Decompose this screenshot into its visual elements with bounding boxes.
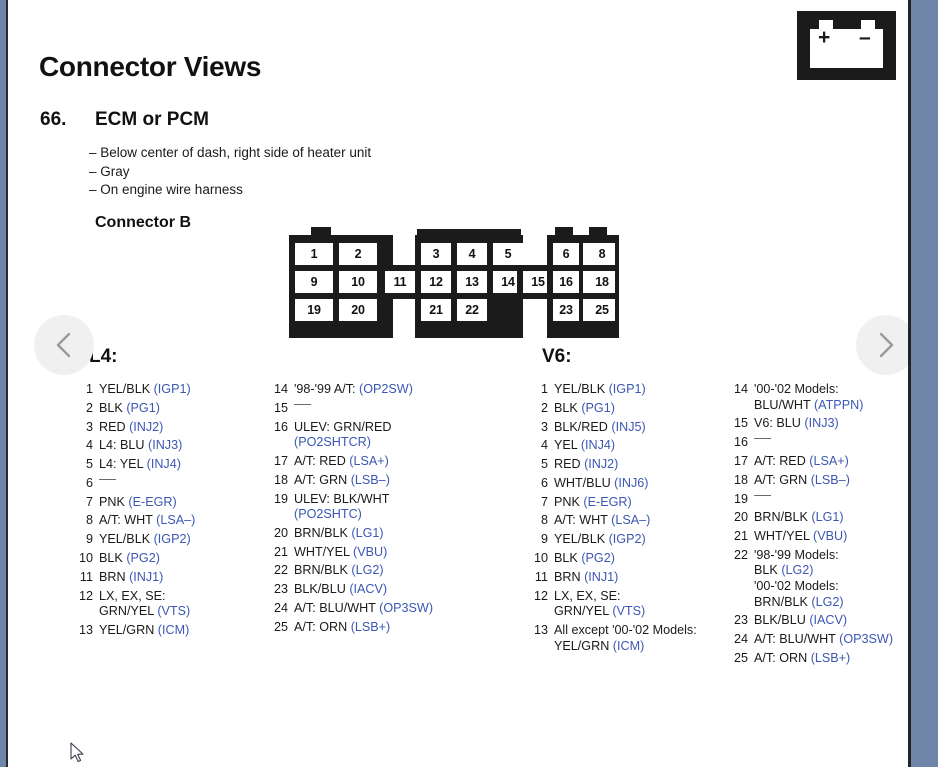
pin-description: A/T: GRN (LSB–) <box>754 473 921 489</box>
pin-number: 24 <box>726 632 754 648</box>
pin-row: 18A/T: GRN (LSB–) <box>726 473 921 489</box>
pin-signal-code: (LG1) <box>811 510 843 524</box>
battery-icon: + – <box>797 11 896 80</box>
pin-row: 13YEL/GRN (ICM) <box>71 623 261 639</box>
pin-signal-code: (LSA–) <box>611 513 650 527</box>
pin-description: YEL/BLK (IGP2) <box>554 532 726 548</box>
connector-pin-8: 8 <box>589 243 615 265</box>
pin-number: 6 <box>71 476 99 492</box>
pin-row: 24A/T: BLU/WHT (OP3SW) <box>726 632 921 648</box>
pin-signal-code: (ICM) <box>613 639 644 653</box>
pin-number: 16 <box>726 435 754 451</box>
pin-description: BLK/RED (INJ5) <box>554 420 726 436</box>
pin-signal-code: (LG2) <box>781 563 813 577</box>
pin-description: YEL/GRN (ICM) <box>99 623 261 639</box>
pin-description: ULEV: GRN/RED (PO2SHTCR) <box>294 420 466 451</box>
right-scroll-rail[interactable] <box>911 0 938 767</box>
connector-diagram: 1291019201134512131421221567816171823242… <box>289 233 619 338</box>
pin-number: 13 <box>526 623 554 639</box>
pin-description: LX, EX, SE: GRN/YEL (VTS) <box>99 589 261 620</box>
pin-row: 14'00-'02 Models: BLU/WHT (ATPPN) <box>726 382 921 413</box>
connector-pin-1: 1 <box>295 243 333 265</box>
empty-pin-dash <box>294 404 311 405</box>
connector-pin-11: 11 <box>385 271 415 293</box>
pin-list-v6-column-1: 1YEL/BLK (IGP1)2BLK (PG1)3BLK/RED (INJ5)… <box>526 382 726 657</box>
pin-number: 12 <box>71 589 99 605</box>
chevron-right-icon <box>875 330 897 360</box>
pin-number: 15 <box>726 416 754 432</box>
pin-row: 9YEL/BLK (IGP2) <box>526 532 726 548</box>
pin-signal-code: (E-EGR) <box>128 495 176 509</box>
pin-number: 14 <box>266 382 294 398</box>
pin-number: 2 <box>71 401 99 417</box>
connector-pin-16: 16 <box>553 271 579 293</box>
pin-number: 9 <box>526 532 554 548</box>
pin-description: L4: BLU (INJ3) <box>99 438 261 454</box>
pin-signal-code: (PG2) <box>581 551 615 565</box>
pin-number: 11 <box>71 570 99 586</box>
pin-number: 2 <box>526 401 554 417</box>
connector-pin-9: 9 <box>295 271 333 293</box>
pin-row: 17A/T: RED (LSA+) <box>266 454 466 470</box>
pin-description <box>754 435 921 451</box>
pin-description: BLK (PG1) <box>99 401 261 417</box>
pin-description: '98-'99 A/T: (OP2SW) <box>294 382 466 398</box>
empty-pin-dash <box>754 495 771 496</box>
pin-row: 5RED (INJ2) <box>526 457 726 473</box>
connector-pin-4: 4 <box>457 243 487 265</box>
next-page-button[interactable] <box>856 315 916 375</box>
pin-signal-code: (VBU) <box>353 545 387 559</box>
pin-row: 21WHT/YEL (VBU) <box>726 529 921 545</box>
pin-row: 13All except '00-'02 Models: YEL/GRN (IC… <box>526 623 726 654</box>
pin-signal-code: (OP2SW) <box>359 382 413 396</box>
pin-description: PNK (E-EGR) <box>99 495 261 511</box>
pin-number: 21 <box>726 529 754 545</box>
pin-signal-code: (LG1) <box>351 526 383 540</box>
pin-description: WHT/BLU (INJ6) <box>554 476 726 492</box>
pin-row: 22BRN/BLK (LG2) <box>266 563 466 579</box>
connector-pin-20: 20 <box>339 299 377 321</box>
pin-description: L4: YEL (INJ4) <box>99 457 261 473</box>
pin-number: 25 <box>266 620 294 636</box>
pin-description: A/T: ORN (LSB+) <box>754 651 921 667</box>
pin-description: YEL (INJ4) <box>554 438 726 454</box>
pin-number: 17 <box>726 454 754 470</box>
pin-number: 13 <box>71 623 99 639</box>
pin-description: BRN (INJ1) <box>554 570 726 586</box>
battery-minus-symbol: – <box>859 31 871 45</box>
pin-description: ULEV: BLK/WHT (PO2SHTC) <box>294 492 466 523</box>
mouse-cursor <box>70 742 86 764</box>
pin-row: 8A/T: WHT (LSA–) <box>71 513 261 529</box>
pin-row: 17A/T: RED (LSA+) <box>726 454 921 470</box>
pin-row: 10BLK (PG2) <box>71 551 261 567</box>
pin-row: 24A/T: BLU/WHT (OP3SW) <box>266 601 466 617</box>
pin-number: 12 <box>526 589 554 605</box>
connector-center-flange <box>417 229 521 239</box>
document-page: + – Connector Views 66. ECM or PCM – Bel… <box>0 0 938 767</box>
pin-signal-code: (LSB+) <box>351 620 391 634</box>
pin-description: BLK/BLU (IACV) <box>754 613 921 629</box>
pin-number: 24 <box>266 601 294 617</box>
pin-row: 9YEL/BLK (IGP2) <box>71 532 261 548</box>
pin-number: 17 <box>266 454 294 470</box>
pin-row: 22'98-'99 Models: BLK (LG2) '00-'02 Mode… <box>726 548 921 610</box>
pin-signal-code: (PG1) <box>126 401 160 415</box>
pin-row: 20BRN/BLK (LG1) <box>266 526 466 542</box>
pin-row: 19 <box>726 492 921 508</box>
connector-pin-2: 2 <box>339 243 377 265</box>
pin-row: 12LX, EX, SE: GRN/YEL (VTS) <box>526 589 726 620</box>
pin-row: 3BLK/RED (INJ5) <box>526 420 726 436</box>
connector-pin-22: 22 <box>457 299 487 321</box>
pin-row: 25A/T: ORN (LSB+) <box>266 620 466 636</box>
page-title: Connector Views <box>39 51 261 83</box>
pin-signal-code: (IGP2) <box>154 532 191 546</box>
pin-description: A/T: BLU/WHT (OP3SW) <box>754 632 921 648</box>
pin-row: 23BLK/BLU (IACV) <box>726 613 921 629</box>
pin-row: 4YEL (INJ4) <box>526 438 726 454</box>
pin-signal-code: (PO2SHTC) <box>294 507 362 521</box>
pin-row: 20BRN/BLK (LG1) <box>726 510 921 526</box>
pin-number: 6 <box>526 476 554 492</box>
pin-number: 22 <box>726 548 754 564</box>
pin-description: A/T: RED (LSA+) <box>754 454 921 470</box>
pin-number: 4 <box>526 438 554 454</box>
pin-signal-code: (OP3SW) <box>379 601 433 615</box>
pin-description: YEL/BLK (IGP2) <box>99 532 261 548</box>
connector-pin-6: 6 <box>553 243 579 265</box>
pin-list-v6-column-2: 14'00-'02 Models: BLU/WHT (ATPPN)15V6: B… <box>726 382 921 670</box>
pin-row: 11BRN (INJ1) <box>71 570 261 586</box>
pin-description: PNK (E-EGR) <box>554 495 726 511</box>
pin-description: A/T: RED (LSA+) <box>294 454 466 470</box>
pin-row: 2BLK (PG1) <box>71 401 261 417</box>
pin-description: A/T: ORN (LSB+) <box>294 620 466 636</box>
pin-row: 15 <box>266 401 466 417</box>
pin-row: 16ULEV: GRN/RED (PO2SHTCR) <box>266 420 466 451</box>
pin-description: All except '00-'02 Models: YEL/GRN (ICM) <box>554 623 726 654</box>
pin-row: 25A/T: ORN (LSB+) <box>726 651 921 667</box>
pin-description: A/T: WHT (LSA–) <box>99 513 261 529</box>
pin-signal-code: (INJ1) <box>584 570 618 584</box>
document-sheet: + – Connector Views 66. ECM or PCM – Bel… <box>8 0 908 767</box>
pin-description: BLK (PG2) <box>554 551 726 567</box>
pin-number: 25 <box>726 651 754 667</box>
pin-number: 20 <box>726 510 754 526</box>
pin-signal-code: (ICM) <box>158 623 189 637</box>
pin-signal-code: (INJ6) <box>614 476 648 490</box>
pin-description: '00-'02 Models: BLU/WHT (ATPPN) <box>754 382 921 413</box>
pin-number: 15 <box>266 401 294 417</box>
pin-number: 22 <box>266 563 294 579</box>
pin-description: BLK/BLU (IACV) <box>294 582 466 598</box>
pin-description: BRN/BLK (LG1) <box>294 526 466 542</box>
pin-row: 5L4: YEL (INJ4) <box>71 457 261 473</box>
pin-row: 6 <box>71 476 261 492</box>
pin-row: 1YEL/BLK (IGP1) <box>526 382 726 398</box>
pin-row: 19ULEV: BLK/WHT (PO2SHTC) <box>266 492 466 523</box>
pin-number: 3 <box>526 420 554 436</box>
section-number: 66. <box>40 109 66 131</box>
pin-signal-code: (PG2) <box>126 551 160 565</box>
pin-row: 10BLK (PG2) <box>526 551 726 567</box>
pin-signal-code: (LSB+) <box>811 651 851 665</box>
pin-description: BLK (PG1) <box>554 401 726 417</box>
pin-number: 8 <box>71 513 99 529</box>
pin-number: 21 <box>266 545 294 561</box>
pin-description <box>99 476 261 492</box>
pin-signal-code: (PO2SHTCR) <box>294 435 371 449</box>
pin-number: 20 <box>266 526 294 542</box>
empty-pin-dash <box>99 479 116 480</box>
pin-row: 3RED (INJ2) <box>71 420 261 436</box>
pin-signal-code: (LSA+) <box>809 454 849 468</box>
pin-description: A/T: WHT (LSA–) <box>554 513 726 529</box>
pin-number: 5 <box>71 457 99 473</box>
connector-left-keytab <box>311 227 331 239</box>
connector-pin-25: 25 <box>589 299 615 321</box>
pin-signal-code: (LG2) <box>351 563 383 577</box>
pin-description: WHT/YEL (VBU) <box>294 545 466 561</box>
pin-row: 1YEL/BLK (IGP1) <box>71 382 261 398</box>
connector-pin-5: 5 <box>493 243 523 265</box>
pin-number: 11 <box>526 570 554 586</box>
pin-number: 16 <box>266 420 294 436</box>
pin-number: 18 <box>726 473 754 489</box>
pin-signal-code: (OP3SW) <box>839 632 893 646</box>
pin-number: 23 <box>726 613 754 629</box>
battery-plus-symbol: + <box>818 31 830 45</box>
connector-pin-21: 21 <box>421 299 451 321</box>
pin-row: 2BLK (PG1) <box>526 401 726 417</box>
pin-signal-code: (IACV) <box>809 613 847 627</box>
pin-description: BLK (PG2) <box>99 551 261 567</box>
pin-description: A/T: BLU/WHT (OP3SW) <box>294 601 466 617</box>
pin-row: 23BLK/BLU (IACV) <box>266 582 466 598</box>
pin-signal-code: (VBU) <box>813 529 847 543</box>
connector-pin-18: 18 <box>589 271 615 293</box>
pin-row: 7PNK (E-EGR) <box>71 495 261 511</box>
pin-signal-code: (INJ4) <box>581 438 615 452</box>
pin-signal-code: (INJ3) <box>804 416 838 430</box>
pin-description: '98-'99 Models: BLK (LG2) '00-'02 Models… <box>754 548 921 610</box>
connector-pin-10: 10 <box>339 271 377 293</box>
connector-pin-19: 19 <box>295 299 333 321</box>
pin-number: 1 <box>526 382 554 398</box>
pin-description: A/T: GRN (LSB–) <box>294 473 466 489</box>
connector-pin-13: 13 <box>457 271 487 293</box>
pin-row: 18A/T: GRN (LSB–) <box>266 473 466 489</box>
pin-description: RED (INJ2) <box>99 420 261 436</box>
pin-description: YEL/BLK (IGP1) <box>554 382 726 398</box>
connector-pin-23: 23 <box>553 299 579 321</box>
pin-signal-code: (LSA–) <box>156 513 195 527</box>
empty-pin-dash <box>754 438 771 439</box>
pin-description: BRN/BLK (LG2) <box>294 563 466 579</box>
previous-page-button[interactable] <box>34 315 94 375</box>
pin-signal-code: (PG1) <box>581 401 615 415</box>
pin-row: 12LX, EX, SE: GRN/YEL (VTS) <box>71 589 261 620</box>
pin-signal-code: (LSB–) <box>351 473 390 487</box>
pin-signal-code: (IGP1) <box>154 382 191 396</box>
pin-number: 19 <box>726 492 754 508</box>
pin-description: BRN/BLK (LG1) <box>754 510 921 526</box>
pin-number: 5 <box>526 457 554 473</box>
pin-description: LX, EX, SE: GRN/YEL (VTS) <box>554 589 726 620</box>
pin-signal-code: (IGP1) <box>609 382 646 396</box>
pin-number: 3 <box>71 420 99 436</box>
pin-number: 7 <box>526 495 554 511</box>
pin-row: 4L4: BLU (INJ3) <box>71 438 261 454</box>
pin-row: 15V6: BLU (INJ3) <box>726 416 921 432</box>
connector-label: Connector B <box>95 214 191 232</box>
pin-signal-code: (LG2) <box>811 595 843 609</box>
pin-signal-code: (LSB–) <box>811 473 850 487</box>
section-notes: – Below center of dash, right side of he… <box>89 144 371 200</box>
pin-signal-code: (INJ3) <box>148 438 182 452</box>
pin-description: V6: BLU (INJ3) <box>754 416 921 432</box>
pin-number: 9 <box>71 532 99 548</box>
pin-number: 10 <box>71 551 99 567</box>
pin-signal-code: (INJ5) <box>611 420 645 434</box>
connector-right-keytab-2 <box>589 227 607 239</box>
pin-signal-code: (IGP2) <box>609 532 646 546</box>
pin-signal-code: (ATPPN) <box>814 398 863 412</box>
pin-number: 7 <box>71 495 99 511</box>
family-title-v6: V6: <box>542 346 572 368</box>
pin-description: BRN (INJ1) <box>99 570 261 586</box>
pin-number: 23 <box>266 582 294 598</box>
pin-row: 7PNK (E-EGR) <box>526 495 726 511</box>
pin-row: 21WHT/YEL (VBU) <box>266 545 466 561</box>
pin-description <box>294 401 466 417</box>
pin-signal-code: (INJ2) <box>584 457 618 471</box>
pin-number: 19 <box>266 492 294 508</box>
section-title: ECM or PCM <box>95 109 209 131</box>
pin-number: 8 <box>526 513 554 529</box>
pin-signal-code: (VTS) <box>612 604 645 618</box>
pin-row: 6WHT/BLU (INJ6) <box>526 476 726 492</box>
pin-signal-code: (IACV) <box>349 582 387 596</box>
pin-description: YEL/BLK (IGP1) <box>99 382 261 398</box>
pin-number: 1 <box>71 382 99 398</box>
pin-description: RED (INJ2) <box>554 457 726 473</box>
pin-row: 11BRN (INJ1) <box>526 570 726 586</box>
pin-description <box>754 492 921 508</box>
pin-signal-code: (VTS) <box>157 604 190 618</box>
pin-signal-code: (LSA+) <box>349 454 389 468</box>
pin-signal-code: (INJ1) <box>129 570 163 584</box>
pin-number: 10 <box>526 551 554 567</box>
pin-description: WHT/YEL (VBU) <box>754 529 921 545</box>
pin-number: 18 <box>266 473 294 489</box>
pin-signal-code: (INJ4) <box>147 457 181 471</box>
pin-row: 16 <box>726 435 921 451</box>
pin-list-l4-column-1: 1YEL/BLK (IGP1)2BLK (PG1)3RED (INJ2)4L4:… <box>71 382 261 642</box>
pin-signal-code: (INJ2) <box>129 420 163 434</box>
pin-row: 8A/T: WHT (LSA–) <box>526 513 726 529</box>
connector-pin-12: 12 <box>421 271 451 293</box>
pin-signal-code: (E-EGR) <box>583 495 631 509</box>
chevron-left-icon <box>53 330 75 360</box>
connector-pin-3: 3 <box>421 243 451 265</box>
pin-number: 14 <box>726 382 754 398</box>
pin-number: 4 <box>71 438 99 454</box>
pin-row: 14'98-'99 A/T: (OP2SW) <box>266 382 466 398</box>
pin-list-l4-column-2: 14'98-'99 A/T: (OP2SW)1516ULEV: GRN/RED … <box>266 382 466 639</box>
connector-right-keytab-1 <box>555 227 573 239</box>
